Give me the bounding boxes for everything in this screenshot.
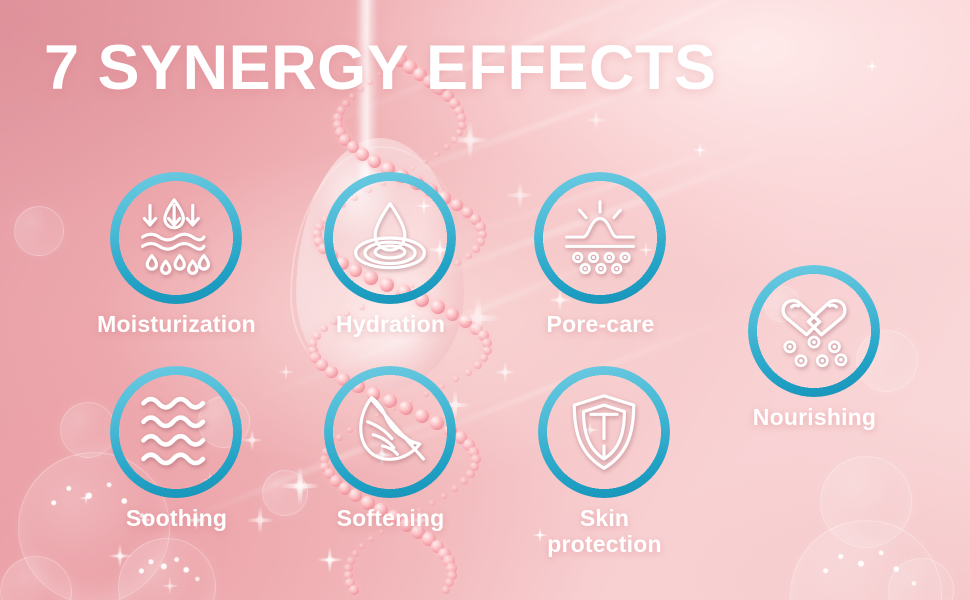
effect-label-softening: Softening: [268, 506, 513, 532]
effect-badge-hydration[interactable]: [324, 172, 456, 304]
effect-badge-nourishing[interactable]: [748, 265, 880, 397]
effect-badge-softening[interactable]: [324, 366, 456, 498]
effect-label-nourishing: Nourishing: [692, 405, 937, 431]
droplet-absorb-skin-icon: [110, 172, 242, 304]
feather-icon: [324, 366, 456, 498]
effect-label-soothing: Soothing: [54, 506, 299, 532]
effect-label-skin-protection: Skin protection: [482, 506, 727, 558]
effect-badge-soothing[interactable]: [110, 366, 242, 498]
droplet-ripple-icon: [324, 172, 456, 304]
effect-label-hydration: Hydration: [268, 312, 513, 338]
skin-pores-icon: [534, 172, 666, 304]
synergy-effects-banner: 7 SYNERGY EFFECTS MoisturizationHydratio…: [0, 0, 970, 600]
effect-badge-moisturization[interactable]: [110, 172, 242, 304]
page-title: 7 SYNERGY EFFECTS: [44, 35, 717, 101]
calm-waves-icon: [110, 366, 242, 498]
capsules-nutrients-icon: [748, 265, 880, 397]
shield-icon: [538, 366, 670, 498]
effect-label-moisturization: Moisturization: [54, 312, 299, 338]
effect-label-pore-care: Pore-care: [478, 312, 723, 338]
effect-badge-pore-care[interactable]: [534, 172, 666, 304]
effect-badge-skin-protection[interactable]: [538, 366, 670, 498]
